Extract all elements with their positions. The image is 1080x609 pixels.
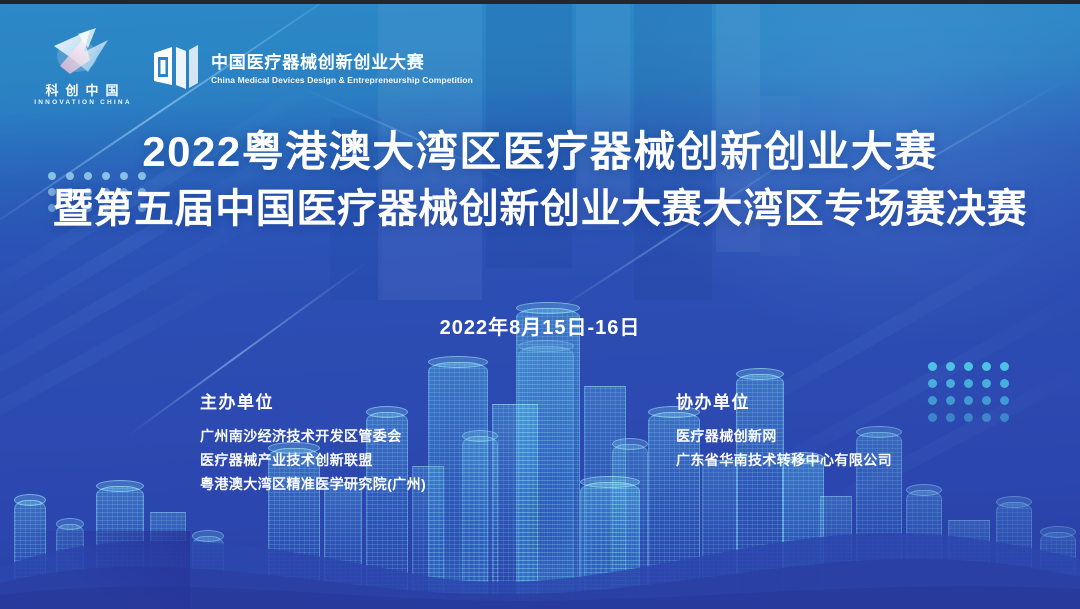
logo-innovation-china: 科创中国 INNOVATION CHINA <box>36 26 128 106</box>
host-organizers: 主办单位 广州南沙经济技术开发区管委会 医疗器械产业技术创新联盟 粤港澳大湾区精… <box>200 388 426 496</box>
event-banner: 科创中国 INNOVATION CHINA 中国医疗器械创新创业大赛 China… <box>0 0 1080 609</box>
coorganizer-title: 协办单位 <box>676 388 892 413</box>
open-door-book-mark <box>152 43 200 89</box>
headline-line-1: 2022粤港澳大湾区医疗器械创新创业大赛 <box>0 128 1080 175</box>
competition-cn: 中国医疗器械创新创业大赛 <box>211 48 473 73</box>
host-item: 医疗器械产业技术创新联盟 <box>200 448 426 472</box>
event-date: 2022年8月15日-16日 <box>0 311 1080 340</box>
coorganizer-item: 广东省华南技术转移中心有限公司 <box>676 448 892 472</box>
logo-row: 科创中国 INNOVATION CHINA 中国医疗器械创新创业大赛 China… <box>36 26 473 106</box>
headline-line-2: 暨第五届中国医疗器械创新创业大赛大湾区专场赛决赛 <box>0 187 1080 232</box>
innovation-china-bird-mark <box>44 26 120 78</box>
logo-competition: 中国医疗器械创新创业大赛 China Medical Devices Desig… <box>152 43 473 89</box>
host-title: 主办单位 <box>200 388 426 413</box>
coorganizers: 协办单位 医疗器械创新网 广东省华南技术转移中心有限公司 <box>676 388 892 472</box>
organizers-section: 主办单位 广州南沙经济技术开发区管委会 医疗器械产业技术创新联盟 粤港澳大湾区精… <box>0 388 1080 508</box>
host-item: 广州南沙经济技术开发区管委会 <box>200 424 426 448</box>
host-item: 粤港澳大湾区精准医学研究院(广州) <box>200 472 426 496</box>
competition-en: China Medical Devices Design & Entrepren… <box>211 75 473 85</box>
headline: 2022粤港澳大湾区医疗器械创新创业大赛 暨第五届中国医疗器械创新创业大赛大湾区… <box>0 128 1080 232</box>
coorganizer-item: 医疗器械创新网 <box>676 424 892 448</box>
innovation-china-en: INNOVATION CHINA <box>32 99 131 106</box>
innovation-china-cn: 科创中国 <box>38 80 125 99</box>
